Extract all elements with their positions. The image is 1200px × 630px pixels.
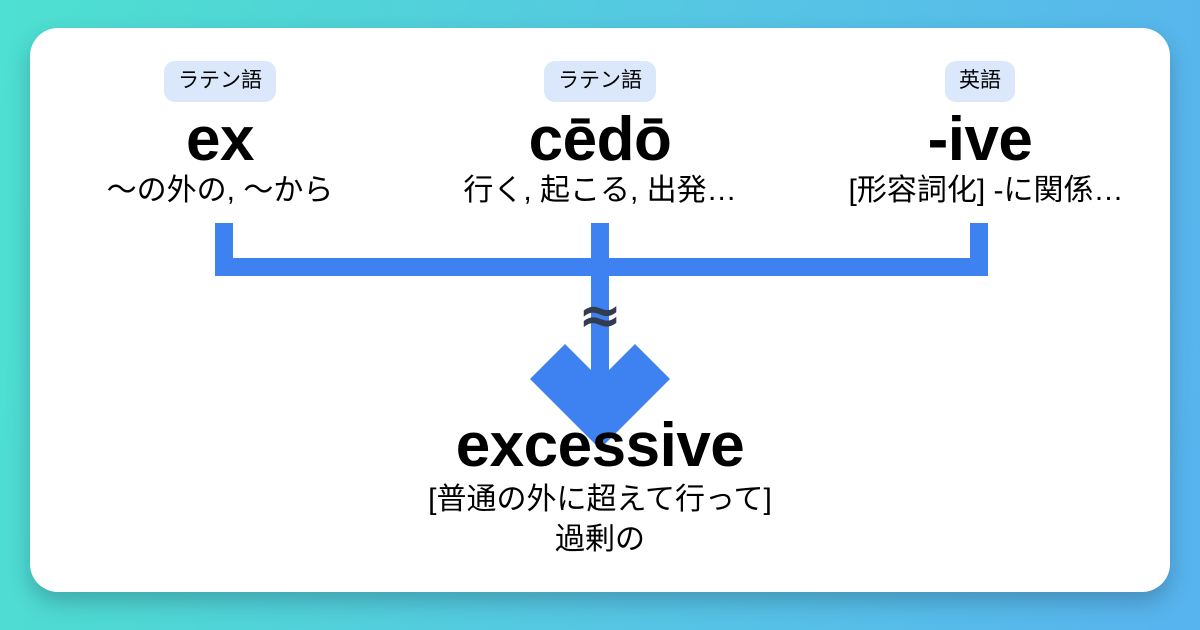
source-morpheme-ex: ラテン語 ex 〜の外の, 〜から <box>30 28 410 209</box>
source-gloss: 〜の外の, 〜から <box>107 174 334 209</box>
bracket-stem-left <box>215 223 233 271</box>
bracket-horizontal-bar <box>215 258 988 276</box>
result-block: excessive [普通の外に超えて行って] 過剰の <box>30 411 1170 560</box>
language-badge: ラテン語 <box>544 61 656 102</box>
result-gloss-literal: [普通の外に超えて行って] <box>30 480 1170 520</box>
source-headword: -ive <box>928 108 1033 172</box>
etymology-card: ラテン語 ex 〜の外の, 〜から ラテン語 cēdō 行く, 起こる, 出発…… <box>30 28 1170 592</box>
equivalence-symbol: ≈ <box>30 290 1170 342</box>
source-morpheme-ive: 英語 -ive [形容詞化] -に関係… <box>790 28 1170 209</box>
source-headword: cēdō <box>529 108 672 172</box>
result-word: excessive <box>30 411 1170 480</box>
source-gloss: 行く, 起こる, 出発… <box>463 174 736 209</box>
language-badge: 英語 <box>945 61 1015 102</box>
etymology-card-canvas: ラテン語 ex 〜の外の, 〜から ラテン語 cēdō 行く, 起こる, 出発…… <box>0 0 1200 630</box>
bracket-stem-right <box>970 223 988 271</box>
language-badge: ラテン語 <box>164 61 276 102</box>
result-gloss-meaning: 過剰の <box>30 520 1170 560</box>
source-morpheme-row: ラテン語 ex 〜の外の, 〜から ラテン語 cēdō 行く, 起こる, 出発…… <box>30 28 1170 228</box>
source-morpheme-cedo: ラテン語 cēdō 行く, 起こる, 出発… <box>410 28 790 209</box>
source-gloss: [形容詞化] -に関係… <box>849 174 1124 209</box>
source-headword: ex <box>186 108 254 172</box>
bracket-stem-middle <box>591 223 609 271</box>
